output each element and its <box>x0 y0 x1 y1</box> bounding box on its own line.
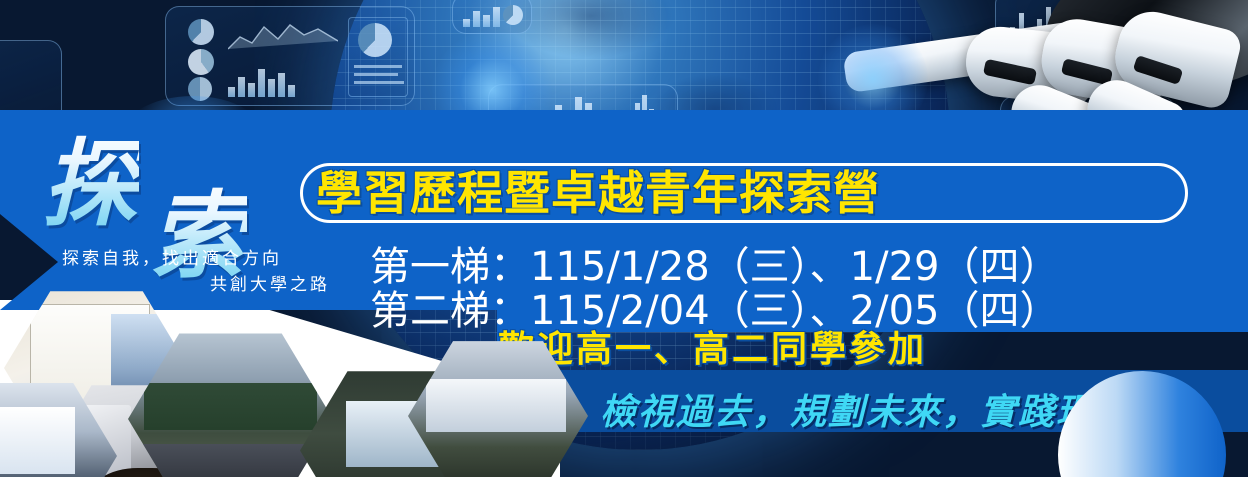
welcome-note: 歡迎高一、高二同學參加 <box>498 320 927 372</box>
hud-panel-small <box>452 0 532 34</box>
area-chart-icon <box>228 19 338 55</box>
subtitle-line-2: 共創大學之路 <box>210 270 330 295</box>
event-headline: 學習歷程暨卓越青年探索營 <box>316 168 1176 218</box>
pie-chart-icon <box>358 23 392 57</box>
bar-chart-icon <box>228 63 295 97</box>
hud-panel-dashboard <box>165 6 415 106</box>
hud-textline <box>354 81 404 84</box>
brand-title-char-1: 探 <box>42 108 139 245</box>
promo-banner: 探 索 探索自我，找出適合方向 共創大學之路 學習歷程暨卓越青年探索營 第一梯：… <box>0 0 1248 477</box>
tagline-text: 檢視過去，規劃未來，實踐理想 <box>600 383 1132 435</box>
hud-textline <box>354 65 402 68</box>
bar-chart-icon <box>463 5 500 27</box>
subtitle-line-1: 探索自我，找出適合方向 <box>62 244 282 269</box>
pie-chart-icon <box>503 5 523 25</box>
pie-chart-icon <box>188 49 214 75</box>
pie-chart-icon <box>188 19 214 45</box>
hud-textline <box>354 73 398 76</box>
